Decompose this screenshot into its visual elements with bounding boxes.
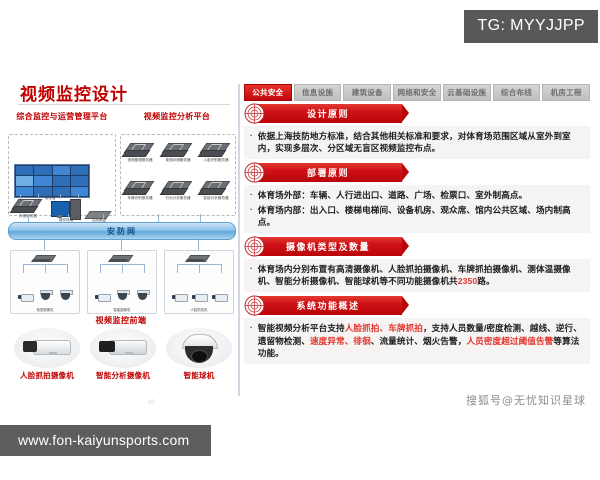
bullet-camera-icon — [95, 293, 110, 301]
switch-icon-3 — [188, 255, 210, 263]
video-wall-icon — [14, 164, 90, 198]
section-header-1: 设计原则 — [254, 104, 402, 123]
downlink-line-2 — [121, 238, 122, 250]
analysis-server-caption-4: 车牌识别服务器 — [120, 197, 160, 201]
highlight-text: 人员密度超过阈值告警 — [466, 336, 553, 346]
section-body-2: ·体育场外部：车辆、人行进出口、道路、广场、检票口、室外制高点。·体育场内部：出… — [244, 185, 590, 233]
target-icon — [244, 295, 265, 316]
platform-right-label: 视频监控分析平台 — [120, 112, 234, 121]
tab-6[interactable]: 综合布线 — [493, 84, 541, 101]
downlink-line-3 — [198, 238, 199, 250]
category-tab-bar[interactable]: 公共安全信息设施建筑设备网络和安全云基础设施综合布线机房工程 — [244, 84, 590, 101]
section-title-3: 摄像机类型及数量 — [286, 240, 370, 253]
bullet-camera-icon — [18, 293, 33, 301]
bullet-text: 体育场内分别布置有高清摄像机、人脸抓拍摄像机、车牌抓拍摄像机、测体温摄像机、智能… — [258, 263, 584, 287]
frontend-group-2: 智能摄像机 — [87, 250, 157, 314]
camera-photo-row: 人脸抓拍摄像机 智能分析摄像机 智能球机 — [8, 328, 234, 390]
bullet-dot: · — [250, 204, 253, 216]
slide-canvas: TG: MYYJJPP 视频监控设计 综合监控与运营管理平台 视频监控分析平台 … — [0, 0, 600, 480]
section-1: 设计原则·依据上海技防地方标准，结合其他相关标准和要求，对体育场范围区域从室外到… — [244, 104, 590, 159]
target-icon — [244, 103, 265, 124]
workstation-tower-icon — [70, 199, 81, 220]
section-2: 部署原则·体育场外部：车辆、人行进出口、道路、广场、检票口、室外制高点。·体育场… — [244, 163, 590, 233]
speed-dome-camera-icon — [136, 290, 149, 301]
section-body-3: ·体育场内分别布置有高清摄像机、人脸抓拍摄像机、车牌抓拍摄像机、测体温摄像机、智… — [244, 259, 590, 292]
frontend-group-1: 枪型摄像机 — [10, 250, 80, 314]
plain-text: 依据上海技防地方标准，结合其他相关标准和要求，对体育场范围区域从室外到室内，实现… — [258, 131, 571, 153]
tab-4[interactable]: 网络和安全 — [393, 84, 441, 101]
section-title-2: 部署原则 — [307, 166, 349, 179]
dome-camera-icon — [39, 290, 52, 301]
tg-watermark-badge: TG: MYYJJPP — [464, 10, 598, 43]
analysis-server-caption-3: 人脸识别服务器 — [196, 159, 236, 163]
bullet-dot: · — [250, 130, 253, 142]
section-title-1: 设计原则 — [307, 107, 349, 120]
section-body-4: ·智能视频分析平台支持人脸抓拍、车牌抓拍，支持人员数量/密度检测、越线、逆行、遗… — [244, 318, 590, 364]
tab-7[interactable]: 机房工程 — [542, 84, 590, 101]
analysis-server-icon-6 — [203, 181, 229, 195]
section-list: 设计原则·依据上海技防地方标准，结合其他相关标准和要求，对体育场范围区域从室外到… — [244, 104, 590, 396]
plain-text: 智能视频分析平台支持 — [258, 323, 345, 333]
sohu-watermark: 搜狐号@无忧知识星球 — [466, 392, 586, 408]
plate-capture-camera-icon — [192, 293, 207, 301]
ptz-dome-camera-icon — [182, 334, 216, 364]
bullet-item: ·体育场外部：车辆、人行进出口、道路、广场、检票口、室外制高点。 — [250, 189, 584, 201]
group-tree-lines-3 — [173, 264, 225, 274]
group-tree-lines-2 — [96, 264, 148, 274]
bullet-dot: · — [250, 263, 253, 275]
group-cameras-3 — [169, 275, 229, 301]
face-capture-camera-photo — [14, 328, 80, 368]
tab-5[interactable]: 云基础设施 — [443, 84, 491, 101]
camera-photo-label-3: 智能球机 — [166, 370, 232, 381]
section-body-1: ·依据上海技防地方标准，结合其他相关标准和要求，对体育场范围区域从室外到室内，实… — [244, 126, 590, 159]
section-title-4: 系统功能概述 — [296, 299, 359, 312]
monitoring-center-box: 电视墙 存储服务器 操作终端 控制键盘 — [8, 134, 116, 216]
group-cameras-1 — [15, 275, 75, 301]
section-header-2: 部署原则 — [254, 163, 402, 182]
camera-photo-label-2: 智能分析摄像机 — [90, 370, 156, 381]
group-caption-1: 枪型摄像机 — [11, 307, 79, 312]
platform-left-label: 综合监控与运营管理平台 — [10, 112, 114, 121]
analysis-server-icon-1 — [127, 143, 153, 157]
analysis-server-caption-5: 行为分析服务器 — [158, 197, 198, 201]
analysis-server-caption-6: 智能分析服务器 — [196, 197, 236, 201]
thermal-camera-icon — [212, 293, 227, 301]
tab-3[interactable]: 建筑设备 — [343, 84, 391, 101]
speed-dome-camera-icon — [59, 290, 72, 301]
frontend-group-3: 人脸抓拍机 — [164, 250, 234, 314]
analysis-server-caption-1: 视频管理服务器 — [120, 159, 160, 163]
switch-icon-1 — [34, 255, 56, 263]
bullet-item: ·体育场内分别布置有高清摄像机、人脸抓拍摄像机、车牌抓拍摄像机、测体温摄像机、智… — [250, 263, 584, 287]
highlight-text: 速度异常、徘徊 — [310, 336, 371, 346]
plain-text: 、流量统计、烟火告警， — [371, 336, 467, 346]
group-cameras-2 — [92, 275, 152, 301]
analysis-server-icon-5 — [165, 181, 191, 195]
frontend-section-label: 视频监控前端 — [68, 315, 174, 326]
target-icon — [244, 236, 265, 257]
bullet-text: 智能视频分析平台支持人脸抓拍、车牌抓拍，支持人员数量/密度检测、越线、逆行、遗留… — [258, 322, 584, 359]
group-caption-3: 人脸抓拍机 — [165, 307, 233, 312]
analysis-server-caption-2: 视频存储服务器 — [158, 159, 198, 163]
target-icon — [244, 162, 265, 183]
storage-server-icon — [15, 199, 41, 213]
face-capture-camera-icon — [172, 293, 187, 301]
switch-icon-2 — [111, 255, 133, 263]
plain-text: 体育场内部：出入口、楼梯电梯间、设备机房、观众席、馆内公共区域、场内制高点。 — [258, 205, 571, 227]
plain-text: 路。 — [477, 276, 494, 286]
bullet-dot: · — [250, 189, 253, 201]
analysis-camera-photo — [90, 328, 156, 368]
highlight-text: 人脸抓拍、车牌抓拍 — [345, 323, 423, 333]
url-watermark-badge: www.fon-kaiyunsports.com — [0, 425, 211, 456]
bullet-camera-icon — [23, 340, 71, 354]
group-caption-2: 智能摄像机 — [88, 307, 156, 312]
plain-text: 体育场内分别布置有高清摄像机、人脸抓拍摄像机、车牌抓拍摄像机、测体温摄像机、智能… — [258, 264, 571, 286]
bullet-item: ·智能视频分析平台支持人脸抓拍、车牌抓拍，支持人员数量/密度检测、越线、逆行、遗… — [250, 322, 584, 359]
bullet-text: 体育场内部：出入口、楼梯电梯间、设备机房、观众席、馆内公共区域、场内制高点。 — [258, 204, 584, 228]
section-header-4: 系统功能概述 — [254, 296, 402, 315]
security-network-bar: 安防网 — [8, 222, 236, 240]
camera-photo-label-1: 人脸抓拍摄像机 — [14, 370, 80, 381]
bullet-camera-icon — [99, 340, 147, 354]
title-divider — [18, 104, 230, 105]
bullet-dot: · — [250, 322, 253, 334]
group-tree-lines-1 — [19, 264, 71, 274]
highlight-text: 2350 — [458, 276, 478, 286]
page-title: 视频监控设计 — [20, 80, 128, 105]
section-header-3: 摄像机类型及数量 — [254, 237, 402, 256]
analysis-server-icon-2 — [165, 143, 191, 157]
dome-camera-icon — [116, 290, 129, 301]
downlink-line-1 — [44, 238, 45, 250]
bullet-text: 体育场外部：车辆、人行进出口、道路、广场、检票口、室外制高点。 — [258, 189, 584, 201]
section-3: 摄像机类型及数量·体育场内分别布置有高清摄像机、人脸抓拍摄像机、车牌抓拍摄像机、… — [244, 237, 590, 292]
tab-2[interactable]: 信息设施 — [294, 84, 342, 101]
tab-1[interactable]: 公共安全 — [244, 84, 292, 101]
analysis-server-icon-4 — [127, 181, 153, 195]
analysis-platform-box: 视频管理服务器 视频存储服务器 人脸识别服务器 车牌识别服务器 行为分析服务器 … — [120, 134, 236, 216]
bullet-item: ·体育场内部：出入口、楼梯电梯间、设备机房、观众席、馆内公共区域、场内制高点。 — [250, 204, 584, 228]
section-4: 系统功能概述·智能视频分析平台支持人脸抓拍、车牌抓拍，支持人员数量/密度检测、越… — [244, 296, 590, 364]
architecture-diagram: 综合监控与运营管理平台 视频监控分析平台 电视墙 存储服务器 操作终端 控制键盘 — [8, 110, 236, 395]
bullet-item: ·依据上海技防地方标准，结合其他相关标准和要求，对体育场范围区域从室外到室内，实… — [250, 130, 584, 154]
plain-text: 体育场外部：车辆、人行进出口、道路、广场、检票口、室外制高点。 — [258, 190, 528, 200]
ptz-dome-camera-photo — [166, 328, 232, 368]
analysis-server-icon-3 — [203, 143, 229, 157]
bullet-text: 依据上海技防地方标准，结合其他相关标准和要求，对体育场范围区域从室外到室内，实现… — [258, 130, 584, 154]
content-panel: 公共安全信息设施建筑设备网络和安全云基础设施综合布线机房工程 设计原则·依据上海… — [238, 84, 592, 396]
slide-page-number: 20 — [148, 400, 155, 406]
